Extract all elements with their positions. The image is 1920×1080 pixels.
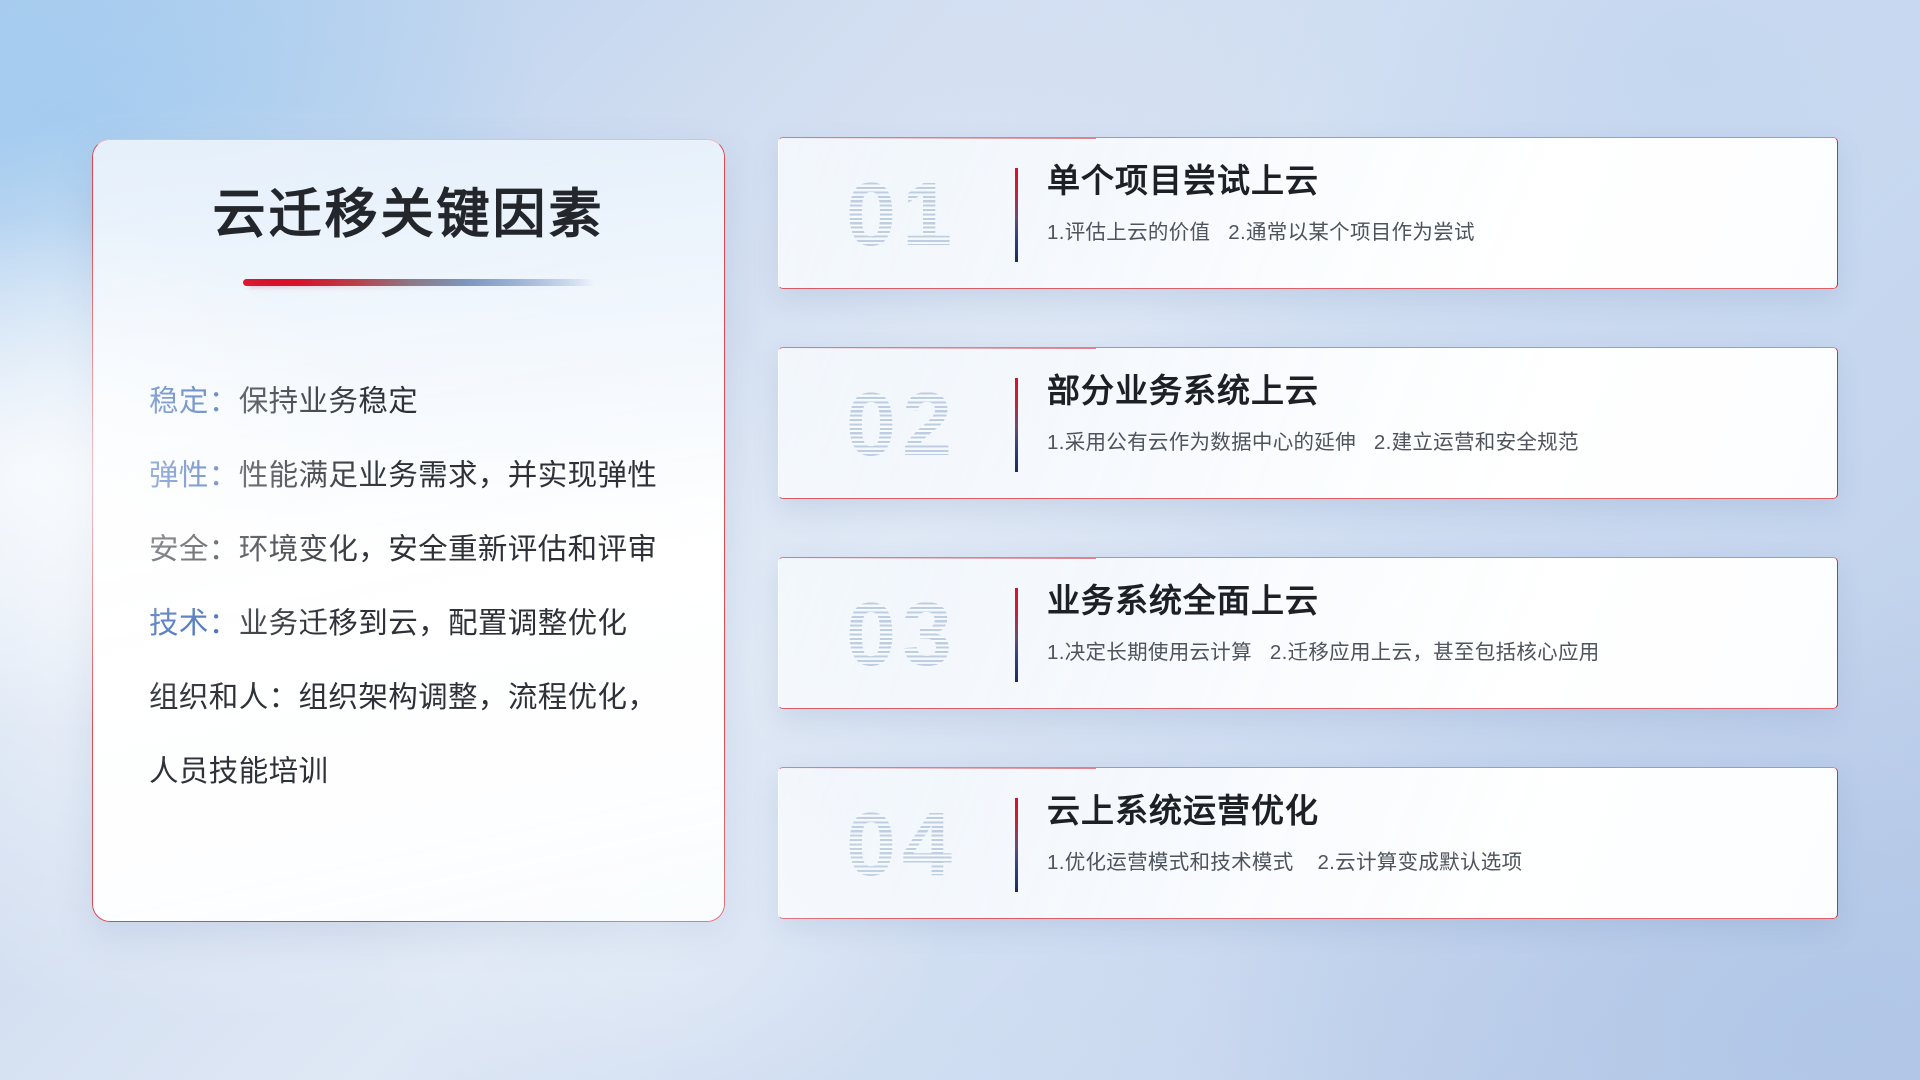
stage-subtitle: 1.采用公有云作为数据中心的延伸 2.建立运营和安全规范: [1047, 425, 1813, 455]
list-item: 技术：业务迁移到云，配置调整优化: [149, 587, 690, 661]
stage-card-01[interactable]: 01 单个项目尝试上云 1.评估上云的价值 2.通常以某个项目作为尝试: [778, 137, 1838, 289]
stage-card-04[interactable]: 04 云上系统运营优化 1.优化运营模式和技术模式 2.云计算变成默认选项: [778, 767, 1838, 919]
list-item-text: 保持业务稳定: [239, 385, 418, 418]
stage-title: 云上系统运营优化: [1047, 790, 1813, 831]
key-factors-panel: 云迁移关键因素 稳定：保持业务稳定 弹性：性能满足业务需求，并实现弹性 安全：环…: [92, 139, 725, 922]
stage-body: 云上系统运营优化 1.优化运营模式和技术模式 2.云计算变成默认选项: [1047, 790, 1813, 875]
stage-divider: [1015, 588, 1018, 682]
list-item-text: 组织架构调整，流程优化，: [299, 681, 658, 714]
stage-number-01: 01: [807, 162, 997, 268]
stage-body: 单个项目尝试上云 1.评估上云的价值 2.通常以某个项目作为尝试: [1047, 160, 1813, 245]
stage-body: 部分业务系统上云 1.采用公有云作为数据中心的延伸 2.建立运营和安全规范: [1047, 370, 1813, 455]
list-item-label: 稳定：: [149, 385, 239, 418]
list-item-label: 组织和人：: [149, 681, 299, 714]
slide-canvas: 云迁移关键因素 稳定：保持业务稳定 弹性：性能满足业务需求，并实现弹性 安全：环…: [0, 0, 1920, 1080]
stage-subtitle: 1.评估上云的价值 2.通常以某个项目作为尝试: [1047, 215, 1813, 245]
panel-title: 云迁移关键因素: [93, 186, 724, 244]
migration-stages-column: 01 单个项目尝试上云 1.评估上云的价值 2.通常以某个项目作为尝试 02 部…: [778, 137, 1838, 977]
list-item: 弹性：性能满足业务需求，并实现弹性: [149, 439, 690, 513]
stage-card-02[interactable]: 02 部分业务系统上云 1.采用公有云作为数据中心的延伸 2.建立运营和安全规范: [778, 347, 1838, 499]
stage-subtitle: 1.决定长期使用云计算 2.迁移应用上云，甚至包括核心应用: [1047, 635, 1813, 665]
stage-divider: [1015, 378, 1018, 472]
stage-subtitle: 1.优化运营模式和技术模式 2.云计算变成默认选项: [1047, 845, 1813, 875]
stage-title: 部分业务系统上云: [1047, 370, 1813, 411]
list-item-text: 业务迁移到云，配置调整优化: [239, 607, 628, 640]
list-item: 安全：环境变化，安全重新评估和评审: [149, 513, 690, 587]
stage-number-03: 03: [807, 582, 997, 688]
list-item: 稳定：保持业务稳定: [149, 365, 690, 439]
list-item-text: 环境变化，安全重新评估和评审: [239, 533, 658, 566]
title-underline-rule: [243, 279, 595, 286]
stage-divider: [1015, 798, 1018, 892]
stage-title: 单个项目尝试上云: [1047, 160, 1813, 201]
key-factors-list: 稳定：保持业务稳定 弹性：性能满足业务需求，并实现弹性 安全：环境变化，安全重新…: [149, 365, 690, 809]
stage-title: 业务系统全面上云: [1047, 580, 1813, 621]
list-item-text: 性能满足业务需求，并实现弹性: [239, 459, 658, 492]
list-item-text: 人员技能培训: [149, 755, 328, 788]
stage-divider: [1015, 168, 1018, 262]
stage-card-03[interactable]: 03 业务系统全面上云 1.决定长期使用云计算 2.迁移应用上云，甚至包括核心应…: [778, 557, 1838, 709]
list-item-label: 技术：: [149, 607, 239, 640]
list-item-continuation: 人员技能培训: [149, 735, 690, 809]
stage-number-04: 04: [807, 792, 997, 898]
stage-body: 业务系统全面上云 1.决定长期使用云计算 2.迁移应用上云，甚至包括核心应用: [1047, 580, 1813, 665]
list-item-label: 弹性：: [149, 459, 239, 492]
list-item: 组织和人：组织架构调整，流程优化，: [149, 661, 690, 735]
list-item-label: 安全：: [149, 533, 239, 566]
stage-number-02: 02: [807, 372, 997, 478]
